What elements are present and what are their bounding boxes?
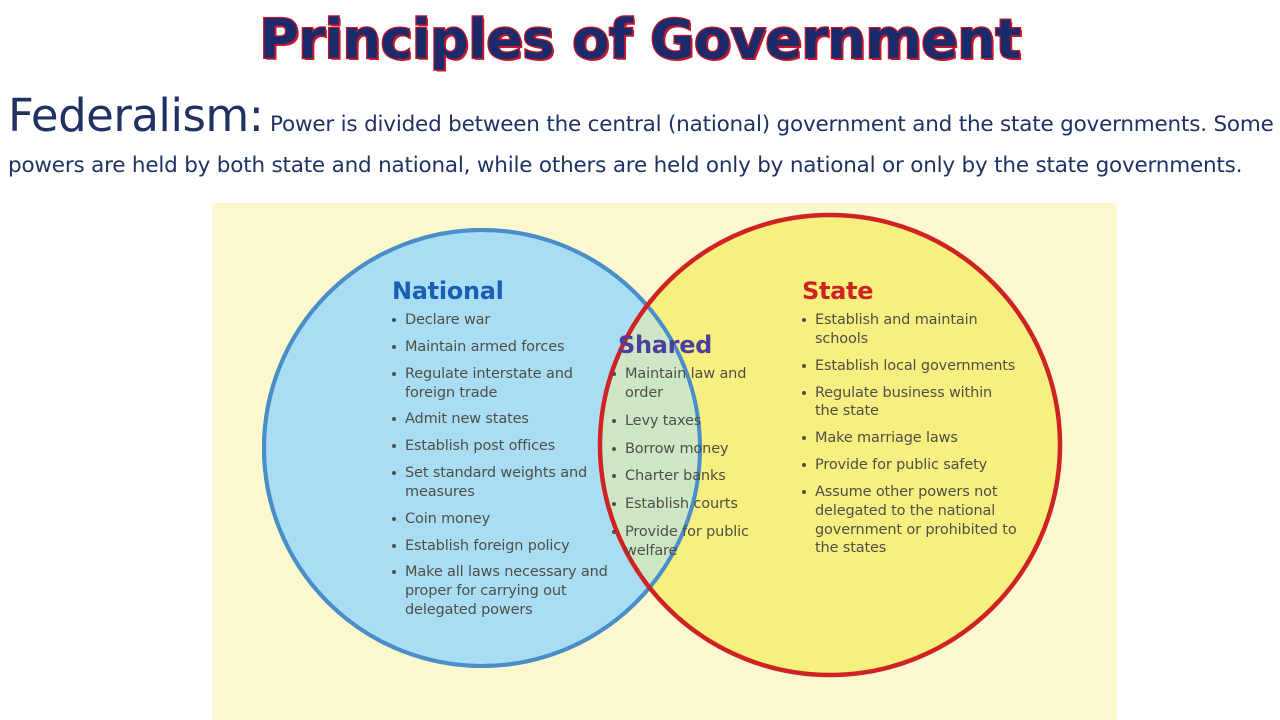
shared-heading: Shared [618, 331, 752, 359]
national-column: National Declare war Maintain armed forc… [390, 277, 622, 628]
list-item: Coin money [390, 510, 622, 529]
shared-column: Shared Maintain law and order Levy taxes… [610, 331, 752, 570]
list-item: Provide for public welfare [610, 523, 752, 561]
list-item: Establish foreign policy [390, 537, 622, 556]
list-item: Regulate interstate and foreign trade [390, 365, 622, 403]
national-list: Declare war Maintain armed forces Regula… [390, 311, 622, 620]
list-item: Levy taxes [610, 412, 752, 431]
state-column: State Establish and maintain schools Est… [800, 277, 1018, 566]
list-item: Declare war [390, 311, 622, 330]
list-item: Assume other powers not delegated to the… [800, 483, 1018, 558]
venn-diagram-panel: National Declare war Maintain armed forc… [212, 203, 1117, 720]
list-item: Maintain armed forces [390, 338, 622, 357]
list-item: Set standard weights and measures [390, 464, 622, 502]
shared-list: Maintain law and order Levy taxes Borrow… [610, 365, 752, 561]
federalism-term: Federalism: [8, 89, 263, 142]
venn-stage: National Declare war Maintain armed forc… [212, 203, 1117, 720]
list-item: Make all laws necessary and proper for c… [390, 563, 622, 620]
state-heading: State [802, 277, 1018, 305]
list-item: Establish courts [610, 495, 752, 514]
list-item: Provide for public safety [800, 456, 1018, 475]
list-item: Establish local governments [800, 357, 1018, 376]
list-item: Admit new states [390, 410, 622, 429]
list-item: Establish post offices [390, 437, 622, 456]
state-list: Establish and maintain schools Establish… [800, 311, 1018, 558]
list-item: Establish and maintain schools [800, 311, 1018, 349]
list-item: Charter banks [610, 467, 752, 486]
page-title: Principles of Government [0, 8, 1280, 71]
federalism-definition-block: Federalism: Power is divided between the… [8, 82, 1276, 183]
list-item: Regulate business within the state [800, 384, 1018, 422]
national-heading: National [392, 277, 622, 305]
list-item: Make marriage laws [800, 429, 1018, 448]
list-item: Borrow money [610, 440, 752, 459]
list-item: Maintain law and order [610, 365, 752, 403]
